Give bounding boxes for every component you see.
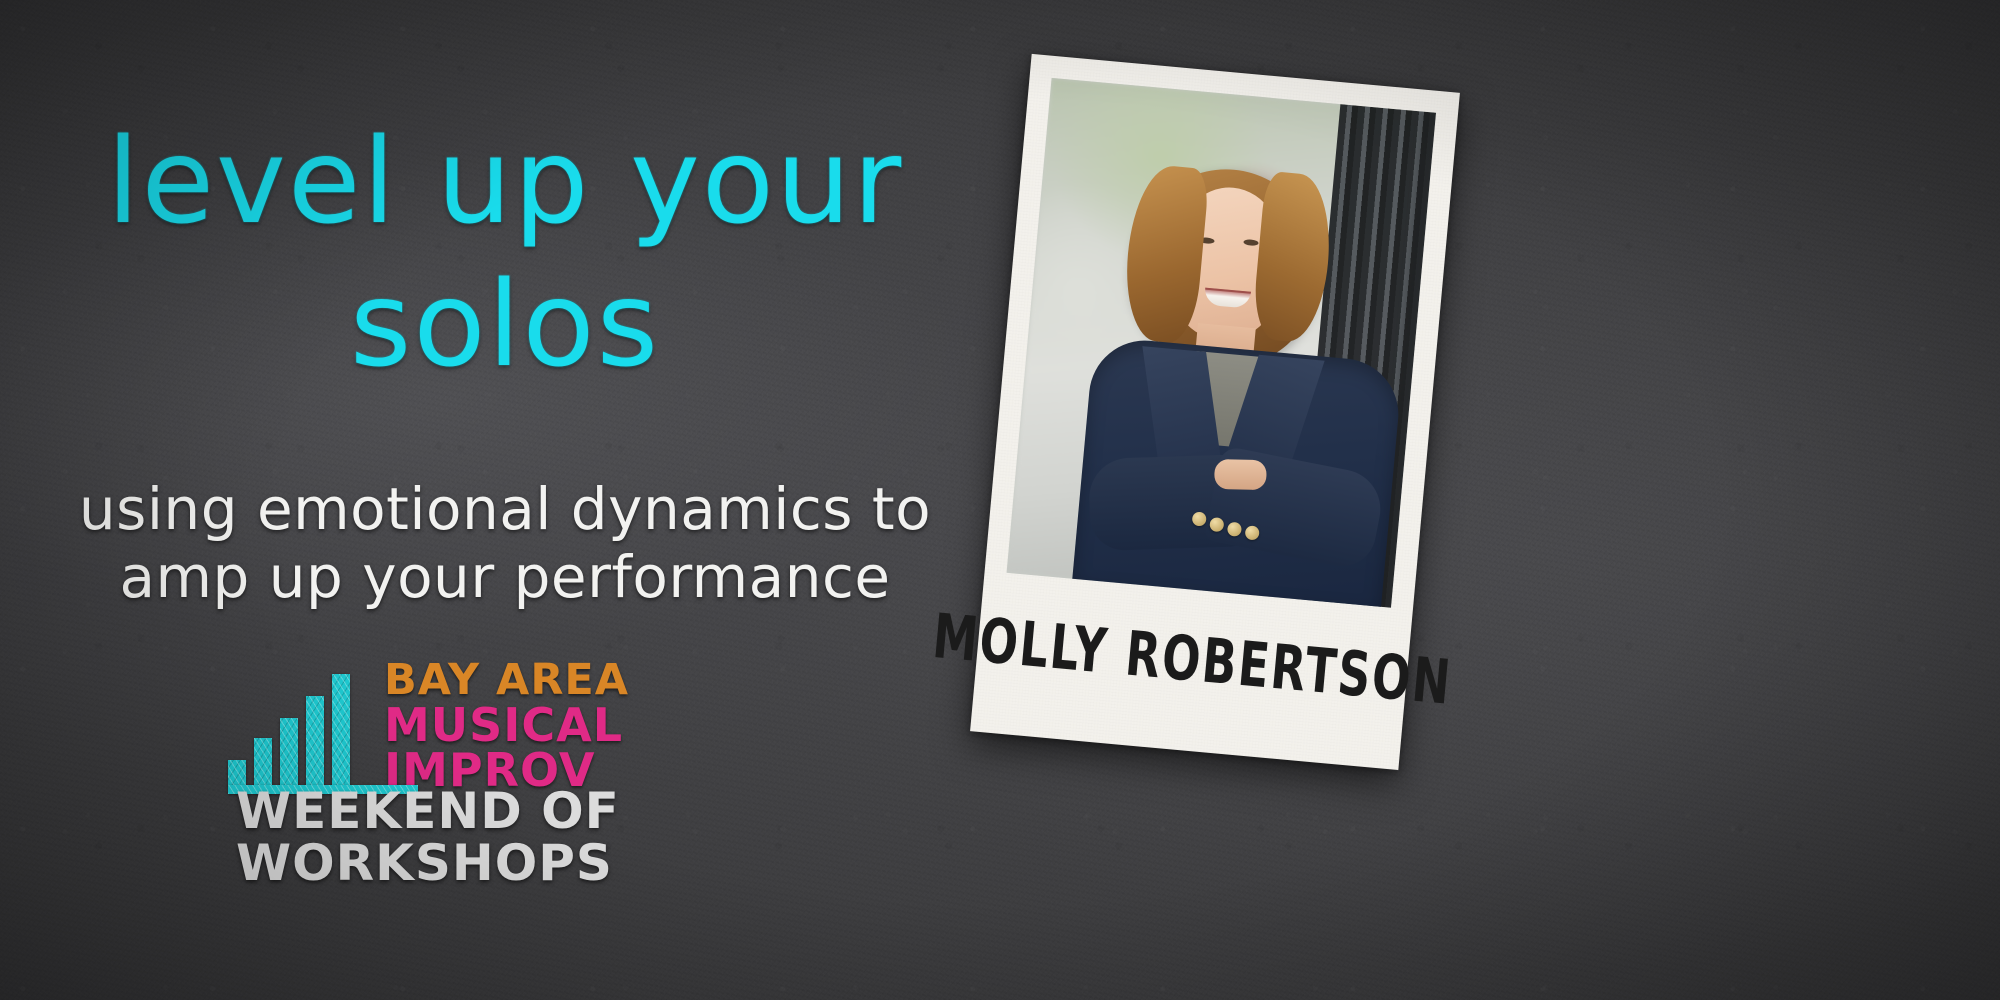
chart-bar-4 <box>306 696 324 786</box>
headline-line-1: level up your <box>0 122 1010 240</box>
headline-line-2: solos <box>0 265 1010 383</box>
presenter-name: MOLLY ROBERTSON <box>930 600 1455 719</box>
logo-text-weekend-of: WEEKEND OF <box>236 788 620 836</box>
logo-text-workshops: WORKSHOPS <box>236 840 620 888</box>
polaroid-photo-card: MOLLY ROBERTSON <box>970 54 1460 770</box>
event-banner: level up your solos using emotional dyna… <box>0 0 2000 1000</box>
chart-bar-2 <box>254 738 272 786</box>
logo-text-bay-area: BAY AREA <box>384 660 629 700</box>
chart-bar-3 <box>280 718 298 786</box>
presenter-photo <box>1007 78 1436 608</box>
logo-text-musical: MUSICAL <box>384 704 629 747</box>
hand <box>1214 459 1267 490</box>
logo-top-row: BAY AREA MUSICAL IMPROV <box>228 660 629 794</box>
hair-right <box>1251 171 1336 345</box>
logo-wordmark: BAY AREA MUSICAL IMPROV <box>384 660 629 794</box>
chart-bar-5 <box>332 674 350 786</box>
subheadline-line-1: using emotional dynamics to <box>0 478 1010 541</box>
subheadline-line-2: amp up your performance <box>0 546 1010 609</box>
left-content-column: level up your solos using emotional dyna… <box>0 0 1010 1000</box>
bar-chart-icon <box>228 682 368 794</box>
presenter-figure <box>1064 150 1432 608</box>
logo-subtitle-lockup: WEEKEND OF WORKSHOPS <box>236 788 620 887</box>
bay-area-musical-improv-logo: BAY AREA MUSICAL IMPROV WEEKEND OF WORKS… <box>228 660 788 890</box>
